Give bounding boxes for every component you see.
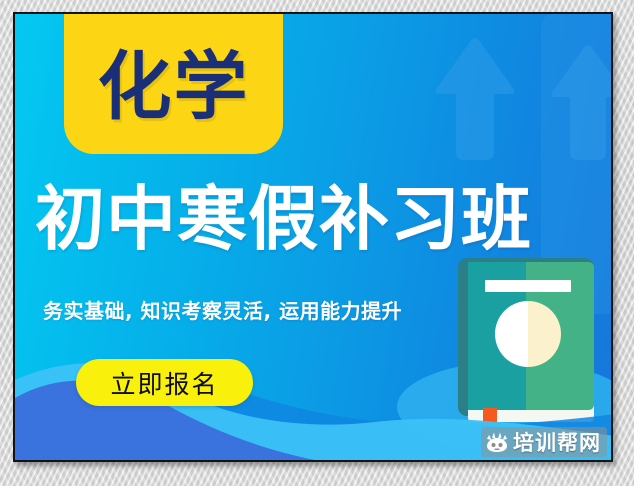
arrow-up-icon [436, 38, 515, 160]
banner-canvas: 化学 初中寒假补习班 务实基础, 知识考察灵活, 运用能力提升 立即报名 [15, 14, 611, 460]
book-title-band [485, 280, 571, 292]
enroll-now-label: 立即报名 [110, 365, 218, 401]
site-watermark: 培训帮网 [481, 427, 607, 457]
enroll-now-button[interactable]: 立即报名 [76, 359, 253, 406]
subject-badge: 化学 [64, 14, 283, 154]
promo-banner[interactable]: 化学 初中寒假补习班 务实基础, 知识考察灵活, 运用能力提升 立即报名 [13, 12, 613, 462]
subject-badge-label: 化学 [98, 50, 250, 124]
page-title: 初中寒假补习班 [35, 184, 611, 254]
sun-face-icon [485, 431, 509, 453]
watermark-text: 培训帮网 [513, 427, 601, 457]
subtitle-text: 务实基础, 知识考察灵活, 运用能力提升 [43, 295, 402, 324]
